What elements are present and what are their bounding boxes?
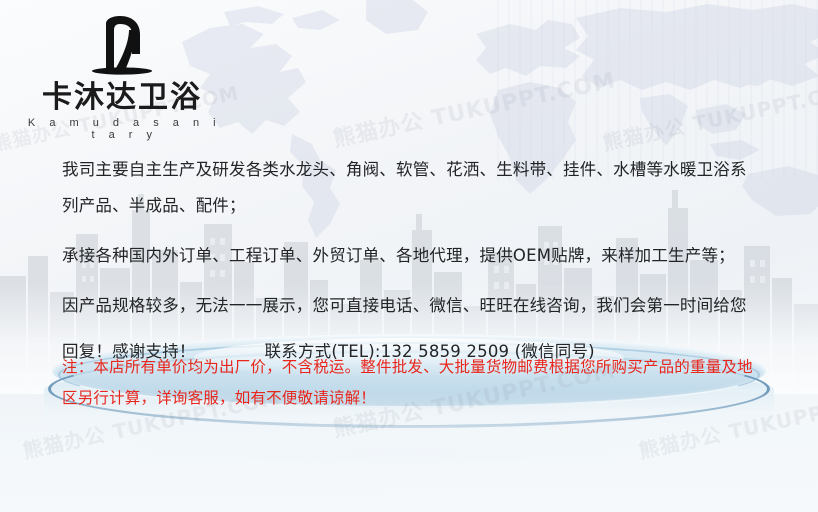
price-note: 注：本店所有单价均为出厂价，不含税运。整件批发、大批量货物邮费根据您所购买产品的… [62, 352, 768, 414]
paragraph-products: 我司主要自主生产及研发各类水龙头、角阀、软管、花洒、生料带、挂件、水槽等水暖卫浴… [62, 152, 762, 224]
paragraph-consult: 因产品规格较多，无法一一展示，您可直接电话、微信、旺旺在线咨询，我们会第一时间给… [62, 288, 762, 324]
description-block: 我司主要自主生产及研发各类水龙头、角阀、软管、花洒、生料带、挂件、水槽等水暖卫浴… [62, 152, 762, 380]
logo-name-en: K a m u d a s a n i t a r y [22, 117, 222, 141]
poster-canvas: 熊猫办公 TUKUPPT.COM 熊猫办公 TUKUPPT.COM 熊猫办公 T… [0, 0, 818, 512]
brand-logo: 卡沐达卫浴 K a m u d a s a n i t a r y [22, 14, 222, 141]
logo-name-cn: 卡沐达卫浴 [22, 82, 222, 114]
paragraph-orders: 承接各种国内外订单、工程订单、外贸订单、各地代理，提供OEM贴牌，来样加工生产等… [62, 238, 762, 274]
podium-shadow [84, 432, 734, 474]
faucet-icon [82, 14, 162, 78]
